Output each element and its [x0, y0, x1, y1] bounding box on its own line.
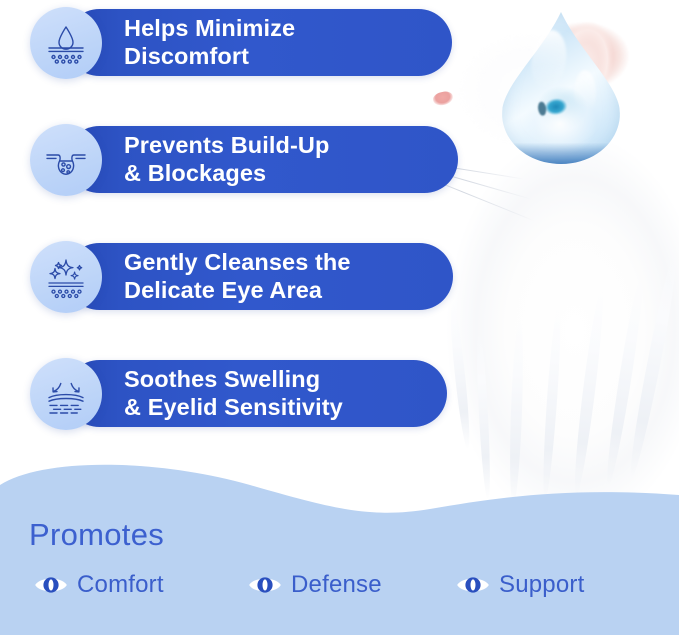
cat-nose: [432, 90, 455, 107]
feature-pill-prevents-buildup[interactable]: Prevents Build-Up & Blockages: [66, 126, 458, 193]
promotes-item-support[interactable]: Support: [456, 571, 584, 599]
promotes-item-comfort[interactable]: Comfort: [34, 571, 164, 599]
feature-label: Soothes Swelling & Eyelid Sensitivity: [124, 366, 343, 421]
eye-icon: [456, 574, 490, 596]
promotes-item-label: Support: [499, 571, 584, 599]
water-droplet-magnifier: [502, 12, 620, 164]
feature-label: Helps Minimize Discomfort: [124, 15, 295, 70]
product-benefits-infographic: Helps Minimize Discomfort Prevents Build…: [0, 0, 679, 635]
fur-strand: [447, 300, 473, 450]
promotes-items-row: Comfort Defense Support: [0, 571, 679, 613]
promotes-title: Promotes: [29, 517, 164, 553]
fur-strand: [602, 272, 648, 487]
feature-label: Prevents Build-Up & Blockages: [124, 132, 329, 187]
feature-label: Gently Cleanses the Delicate Eye Area: [124, 249, 351, 304]
clogged-pore-icon: [30, 124, 102, 196]
feature-pill-minimize-discomfort[interactable]: Helps Minimize Discomfort: [66, 9, 452, 76]
droplet-rim: [502, 12, 620, 164]
feature-pill-gently-cleanses[interactable]: Gently Cleanses the Delicate Eye Area: [66, 243, 453, 310]
fur-strand: [625, 251, 679, 479]
soothing-arrows-skin-icon: [30, 358, 102, 430]
promotes-item-label: Comfort: [77, 571, 164, 599]
eye-icon: [248, 574, 282, 596]
promotes-item-label: Defense: [291, 571, 382, 599]
droplet-on-skin-icon: [30, 7, 102, 79]
promotes-item-defense[interactable]: Defense: [248, 571, 382, 599]
eye-icon: [34, 574, 68, 596]
feature-pill-soothes-swelling[interactable]: Soothes Swelling & Eyelid Sensitivity: [66, 360, 447, 427]
sparkle-clean-skin-icon: [30, 241, 102, 313]
